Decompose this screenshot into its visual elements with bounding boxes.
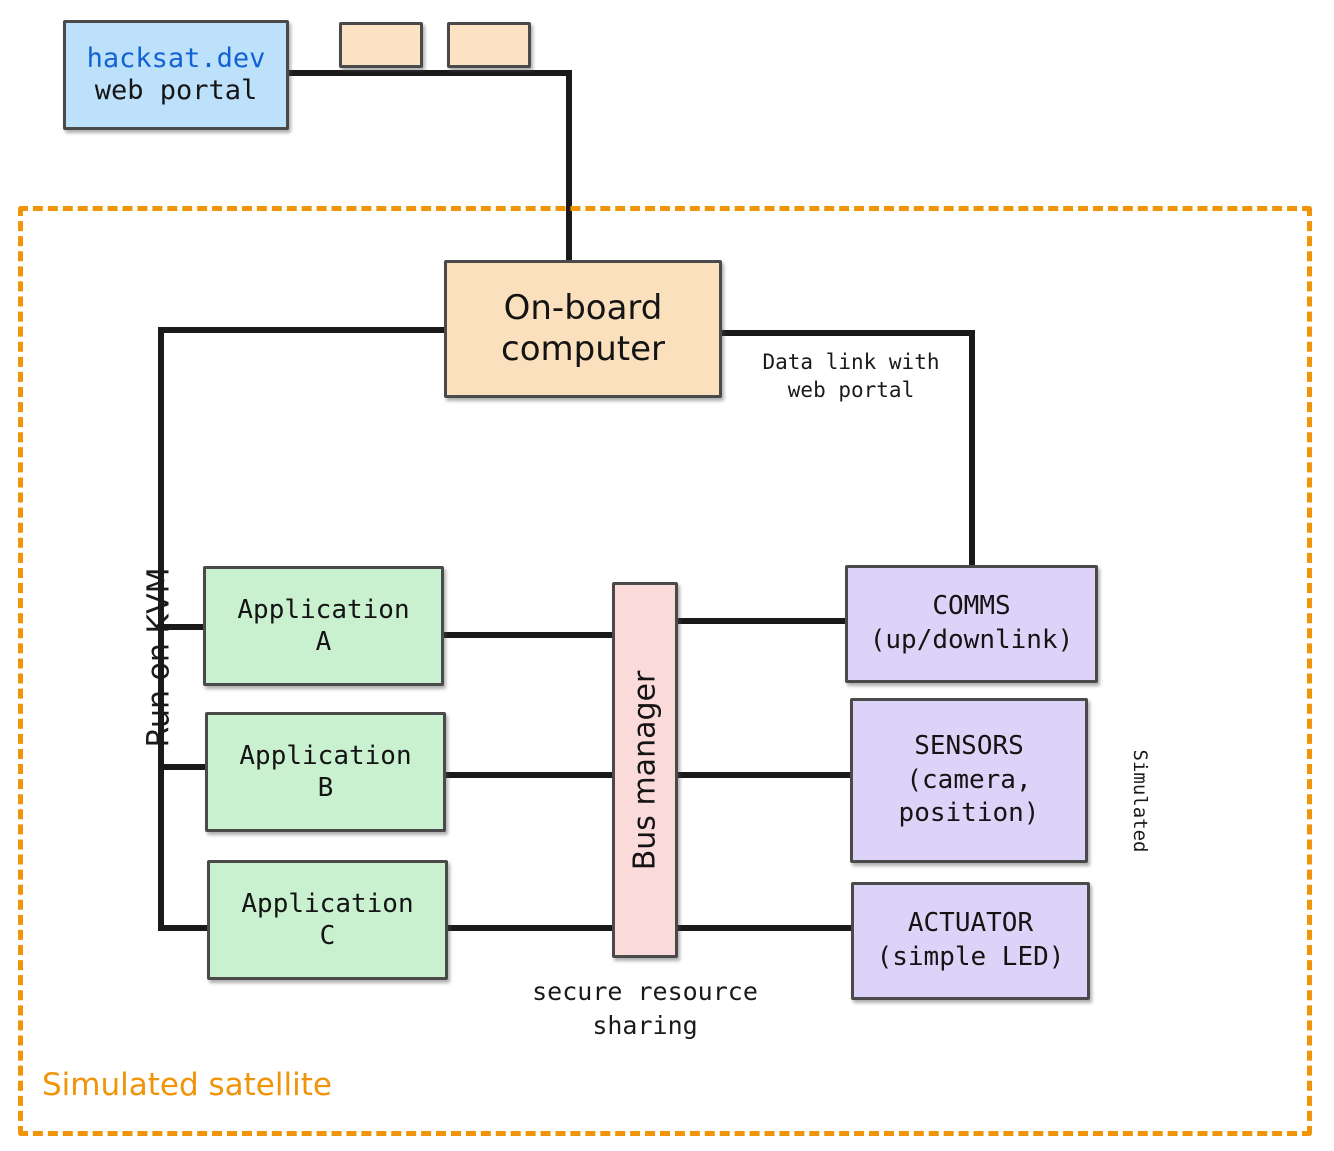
onboard-computer-node[interactable]: On-board computer <box>444 260 722 398</box>
onboard-computer-line1: On-board <box>504 288 663 329</box>
application-b-line2: B <box>318 772 334 805</box>
run-on-kvm-annotation: Run on KVM <box>142 548 177 768</box>
application-c-node[interactable]: Application C <box>207 860 448 980</box>
actuator-line1: ACTUATOR <box>908 907 1033 941</box>
actuator-node[interactable]: ACTUATOR (simple LED) <box>851 882 1090 1000</box>
comms-line1: COMMS <box>932 590 1010 624</box>
application-c-line1: Application <box>241 888 413 921</box>
application-b-line1: Application <box>239 740 411 773</box>
application-b-node[interactable]: Application B <box>205 712 446 832</box>
comms-node[interactable]: COMMS (up/downlink) <box>845 565 1098 683</box>
bus-manager-node[interactable]: Bus manager <box>612 582 678 958</box>
application-c-line2: C <box>320 920 336 953</box>
bus-manager-label: Bus manager <box>628 670 663 870</box>
legend-swatch-2 <box>447 22 531 68</box>
web-portal-subtitle: web portal <box>95 75 258 107</box>
simulated-satellite-title: Simulated satellite <box>42 1067 332 1103</box>
secure-resource-sharing-annotation: secure resource sharing <box>505 975 785 1043</box>
diagram-canvas: hacksat.dev web portal On-board computer… <box>0 0 1334 1151</box>
web-portal-node[interactable]: hacksat.dev web portal <box>63 20 289 130</box>
sensors-line3: position) <box>899 797 1040 831</box>
web-portal-domain: hacksat.dev <box>87 43 266 75</box>
onboard-computer-line2: computer <box>501 329 665 370</box>
legend-swatch-1 <box>339 22 423 68</box>
application-a-node[interactable]: Application A <box>203 566 444 686</box>
data-link-annotation: Data link with web portal <box>751 348 951 405</box>
application-a-line2: A <box>316 626 332 659</box>
simulated-annotation: Simulated <box>1129 721 1151 881</box>
sensors-line1: SENSORS <box>914 730 1024 764</box>
application-a-line1: Application <box>237 594 409 627</box>
actuator-line2: (simple LED) <box>877 941 1065 975</box>
comms-line2: (up/downlink) <box>870 624 1074 658</box>
sensors-node[interactable]: SENSORS (camera, position) <box>850 698 1088 863</box>
sensors-line2: (camera, <box>906 764 1031 798</box>
